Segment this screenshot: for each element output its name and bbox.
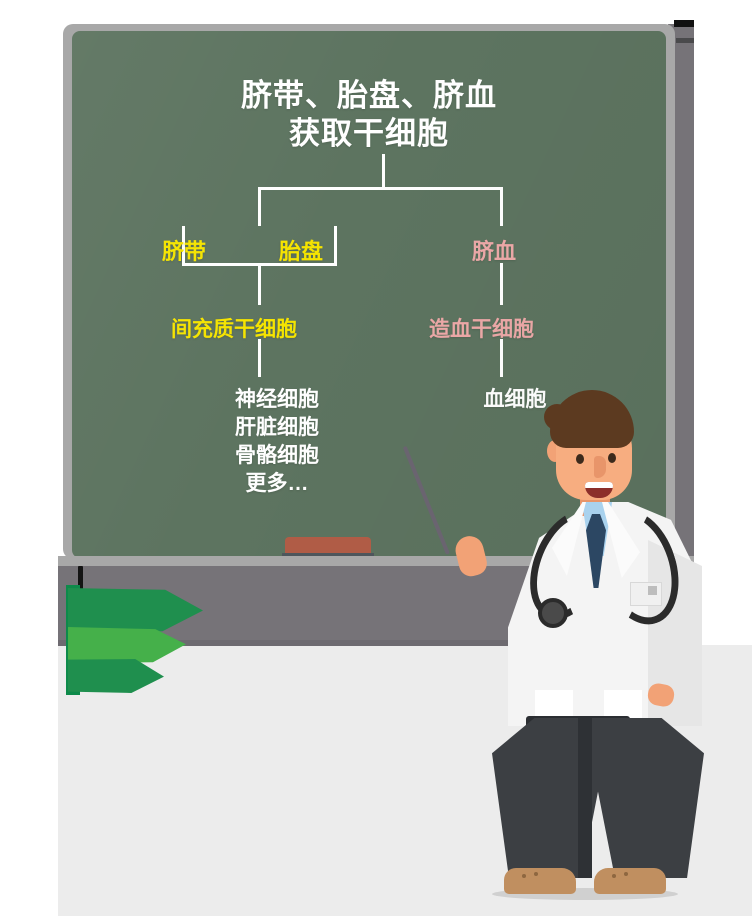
doctor-left-hand: [453, 533, 490, 579]
trousers: [492, 718, 704, 878]
connector-cordblood-to-hsc: [500, 263, 503, 305]
doctor-hair-tuft: [544, 404, 570, 430]
node-umbilical-cord: 脐带: [162, 234, 206, 266]
eraser-icon: [285, 537, 371, 554]
connector-hsc-to-bloodcell: [500, 339, 503, 377]
node-hematopoietic-stem-cell: 造血干细胞: [429, 313, 534, 343]
doctor-teeth: [585, 482, 613, 488]
connector-root-bar: [258, 187, 503, 190]
shoe-right: [594, 868, 666, 894]
connector-root-trunk: [382, 154, 385, 188]
plant-leaf-lower: [68, 659, 164, 693]
connector-msc-to-outputs: [258, 339, 261, 377]
wall-panel-notch: [676, 38, 694, 43]
connector-merge-to-msc: [258, 263, 261, 305]
connector-root-to-left-group: [258, 187, 261, 226]
node-cord-blood: 脐血: [472, 234, 516, 266]
board-title-line-2: 获取干细胞: [72, 115, 666, 153]
shoe-lace-dot: [522, 874, 526, 878]
node-bone-cell: 骨骼细胞: [192, 442, 362, 470]
plant-leaf-middle: [68, 627, 186, 663]
trousers-center-seam: [578, 718, 592, 878]
node-nerve-cell: 神经细胞: [192, 386, 362, 414]
connector-root-to-cordblood: [500, 187, 503, 226]
doctor-eye-left: [576, 454, 584, 464]
stethoscope-bell-icon: [538, 598, 568, 628]
plant-icon: [60, 585, 210, 695]
shoe-lace-dot: [534, 872, 538, 876]
node-msc-outputs: 神经细胞 肝脏细胞 骨骼细胞 更多…: [192, 386, 362, 499]
board-title: 脐带、胎盘、脐血 获取干细胞: [72, 77, 666, 153]
doctor-eye-right: [608, 453, 616, 463]
connector-placenta-stem: [334, 226, 337, 266]
id-badge: [630, 582, 662, 606]
illustration-canvas: 脐带、胎盘、脐血 获取干细胞 脐带 胎盘 脐血 间充质干细胞 造血干细胞 神经细…: [0, 0, 752, 916]
node-more-label: 更多…: [192, 470, 362, 498]
node-liver-cell: 肝脏细胞: [192, 414, 362, 442]
shoe-lace-dot: [612, 874, 616, 878]
wall-panel-top-cap: [674, 20, 694, 27]
board-title-line-1: 脐带、胎盘、脐血: [72, 77, 666, 115]
doctor-character: [452, 390, 702, 916]
doctor-nose: [594, 456, 606, 478]
node-mesenchymal-stem-cell: 间充质干细胞: [171, 313, 297, 343]
shoe-lace-dot: [624, 872, 628, 876]
plant-leaf-upper: [68, 588, 203, 633]
shoe-left: [504, 868, 576, 894]
node-placenta: 胎盘: [279, 234, 323, 266]
id-badge-photo: [648, 586, 657, 595]
